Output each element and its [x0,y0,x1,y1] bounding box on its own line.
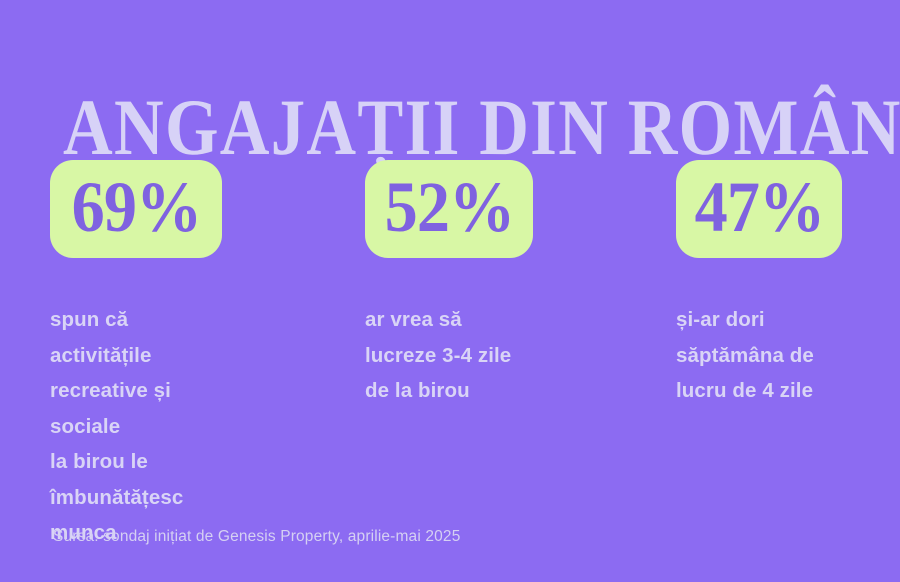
stat-description-2: ar vrea să lucreze 3-4 zile de la birou [365,302,533,409]
stat-description-1: spun că activitățile recreative și socia… [50,302,222,551]
stat-column-2: 52% ar vrea să lucreze 3-4 zile de la bi… [365,160,533,429]
stat-badge-3: 47% [676,160,842,258]
source-note: Sursa: sondaj inițiat de Genesis Propert… [53,527,460,547]
stat-value-1: 69% [71,171,201,243]
stat-column-1: 69% spun că activitățile recreative și s… [50,160,222,571]
page-title: ANGAJAȚII DIN ROMÂNIA [63,88,837,168]
stat-badge-1: 69% [50,160,222,258]
stats-row: 69% spun că activitățile recreative și s… [50,160,850,571]
stat-value-3: 47% [694,171,824,243]
stat-description-3: și-ar dori săptămâna de lucru de 4 zile [676,302,842,409]
stat-column-3: 47% și-ar dori săptămâna de lucru de 4 z… [676,160,842,429]
infographic-poster: ANGAJAȚII DIN ROMÂNIA 69% spun că activi… [0,0,900,582]
stat-badge-2: 52% [365,160,533,258]
stat-value-2: 52% [384,171,514,243]
